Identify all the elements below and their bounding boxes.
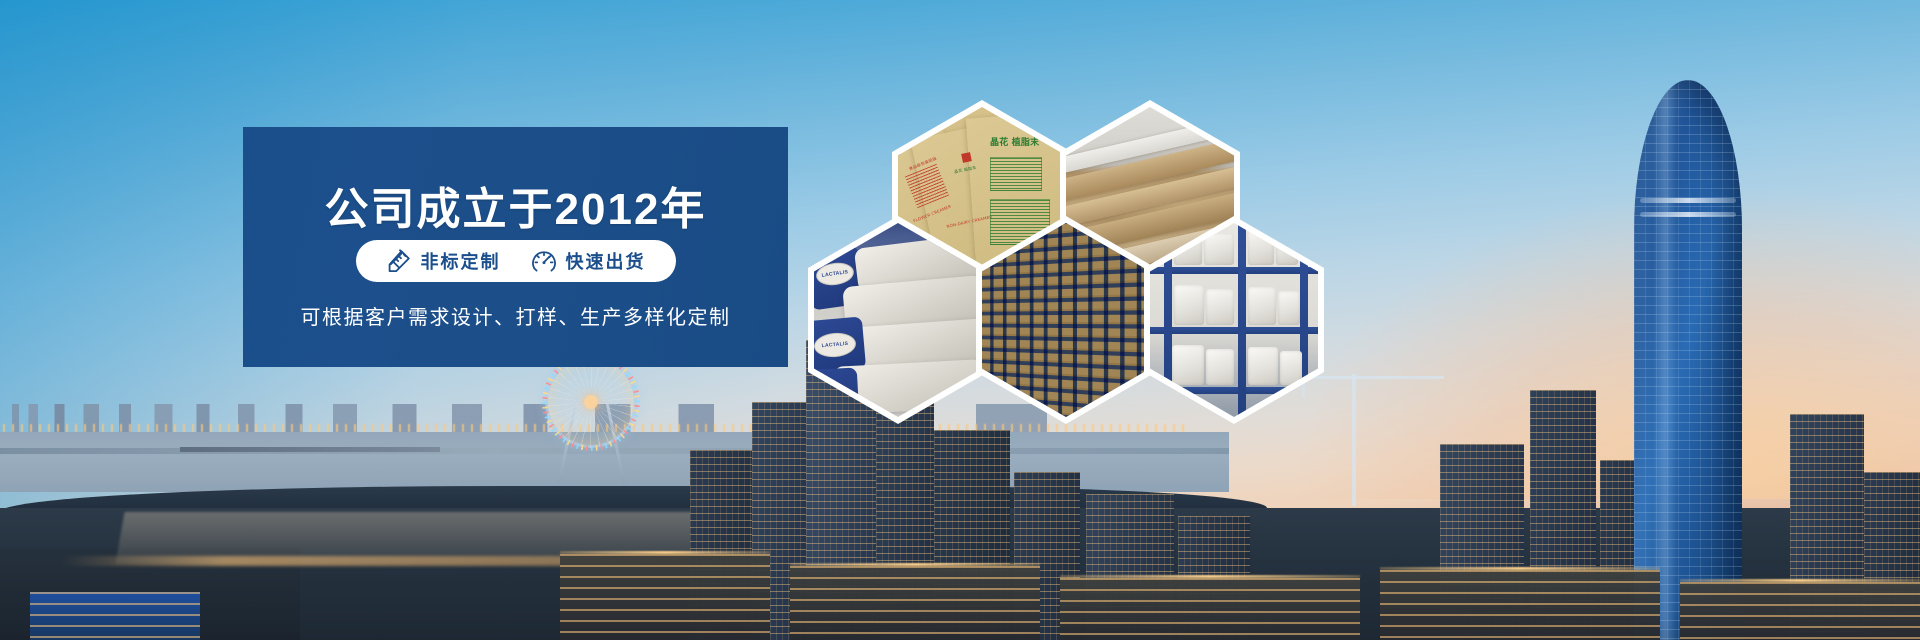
bridge (180, 447, 440, 452)
subheadline: 可根据客户需求设计、打样、生产多样化定制 (243, 301, 788, 330)
hex-photo-warehouse-rack-bales (1150, 223, 1318, 417)
tower-reflection (1653, 80, 1677, 640)
foreground-block-4 (1380, 570, 1660, 640)
ruler-pencil-icon (386, 248, 412, 274)
foreground-block-4-lights (1380, 570, 1660, 640)
hex-photo-pallet-stacked-bags (982, 223, 1150, 417)
tower-band-1 (1640, 198, 1735, 203)
roofline-2 (790, 563, 1040, 566)
crane-jib (1302, 376, 1444, 379)
roofline-5 (1680, 579, 1920, 582)
roofline-3 (1060, 575, 1360, 578)
curved-skyscraper (1634, 80, 1742, 640)
pallet-stack-corner (1059, 223, 1061, 417)
hero-text-panel: 公司成立于2012年 非标定制 (243, 127, 788, 367)
badge-custom-manufacturing[interactable]: 非标定制 (386, 248, 501, 274)
tower-mullions (1634, 80, 1742, 640)
foreground-block-3 (1060, 578, 1360, 640)
tower-band-2 (1640, 212, 1735, 217)
speedometer-icon (531, 248, 557, 274)
badge-fast-shipping[interactable]: 快速出货 (531, 248, 646, 274)
foreground-block-1-lights (560, 554, 770, 640)
headline: 公司成立于2012年 (243, 173, 788, 237)
ferris-hub (584, 395, 598, 409)
hex-product-gallery: 食品级包装纸袋 FLOWER CREAMER 晶花 植脂末 NON-DAIRY … (792, 92, 1312, 432)
roofline-4 (1380, 567, 1660, 570)
badge-fast-shipping-label: 快速出货 (566, 248, 646, 274)
ferris-wheel (545, 356, 637, 488)
feature-badge-pill: 非标定制 快速 (356, 240, 676, 282)
foreground-block-2-lights (790, 566, 1040, 640)
roofline-1 (560, 551, 770, 554)
foreground-block-1 (560, 554, 770, 640)
foreground-block-5-lights (1680, 582, 1920, 640)
foreground-block-6-lights (30, 592, 200, 640)
white-sack-photo: LACTALIS LACTALIS (814, 223, 982, 417)
crane-mast (1352, 374, 1356, 506)
pallet-stack-photo (982, 223, 1150, 417)
badge-custom-manufacturing-label: 非标定制 (421, 248, 501, 274)
warehouse-rack-photo (1150, 223, 1318, 417)
hex-photo-lactalis-white-sacks: LACTALIS LACTALIS (814, 223, 982, 417)
foreground-block-2 (790, 566, 1040, 640)
pallet-stack-pattern (982, 223, 1150, 417)
construction-crane (1296, 356, 1446, 506)
foreground-block-6 (30, 592, 200, 640)
foreground-block-3-lights (1060, 578, 1360, 640)
foreground-block-5 (1680, 582, 1920, 640)
hero-banner: 食品级包装纸袋 FLOWER CREAMER 晶花 植脂末 NON-DAIRY … (0, 0, 1920, 640)
